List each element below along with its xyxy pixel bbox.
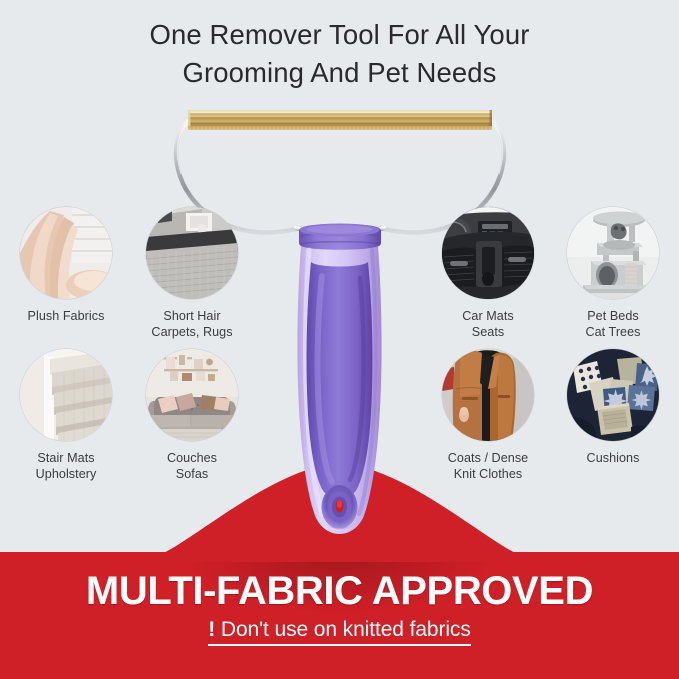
feature-label: Couches Sofas [117,450,267,482]
headline-line-2: Grooming And Pet Needs [0,54,679,92]
feature-label: Pet Beds Cat Trees [538,308,679,340]
banner-title: MULTI-FABRIC APPROVED [0,571,679,611]
cushion-pillows-photo [567,349,659,441]
car-interior-photo [442,207,534,299]
feature-item: Short Hair Carpets, Rugs [117,207,267,340]
warning-exclamation: ! [208,618,215,641]
page-title: One Remover Tool For All Your Grooming A… [0,16,679,92]
warning-text: Don't use on knitted fabrics [221,618,471,641]
cat-tree-photo [567,207,659,299]
short-hair-carpet-photo [146,207,238,299]
stair-carpet-photo [20,349,112,441]
wool-coat-photo [442,349,534,441]
feature-item: Pet Beds Cat Trees [538,207,679,340]
banner-warning: ! Don't use on knitted fabrics [208,618,471,646]
plush-fabrics-photo [20,207,112,299]
headline-line-1: One Remover Tool For All Your [0,16,679,54]
feature-label: Cushions [538,450,679,466]
approval-banner: MULTI-FABRIC APPROVED ! Don't use on kni… [0,562,679,679]
couch-sofa-photo [146,349,238,441]
product-infographic: One Remover Tool For All Your Grooming A… [0,0,679,679]
feature-item: Couches Sofas [117,349,267,482]
feature-label: Short Hair Carpets, Rugs [117,308,267,340]
copper-tooth-bar [188,110,492,130]
feature-item: Cushions [538,349,679,466]
